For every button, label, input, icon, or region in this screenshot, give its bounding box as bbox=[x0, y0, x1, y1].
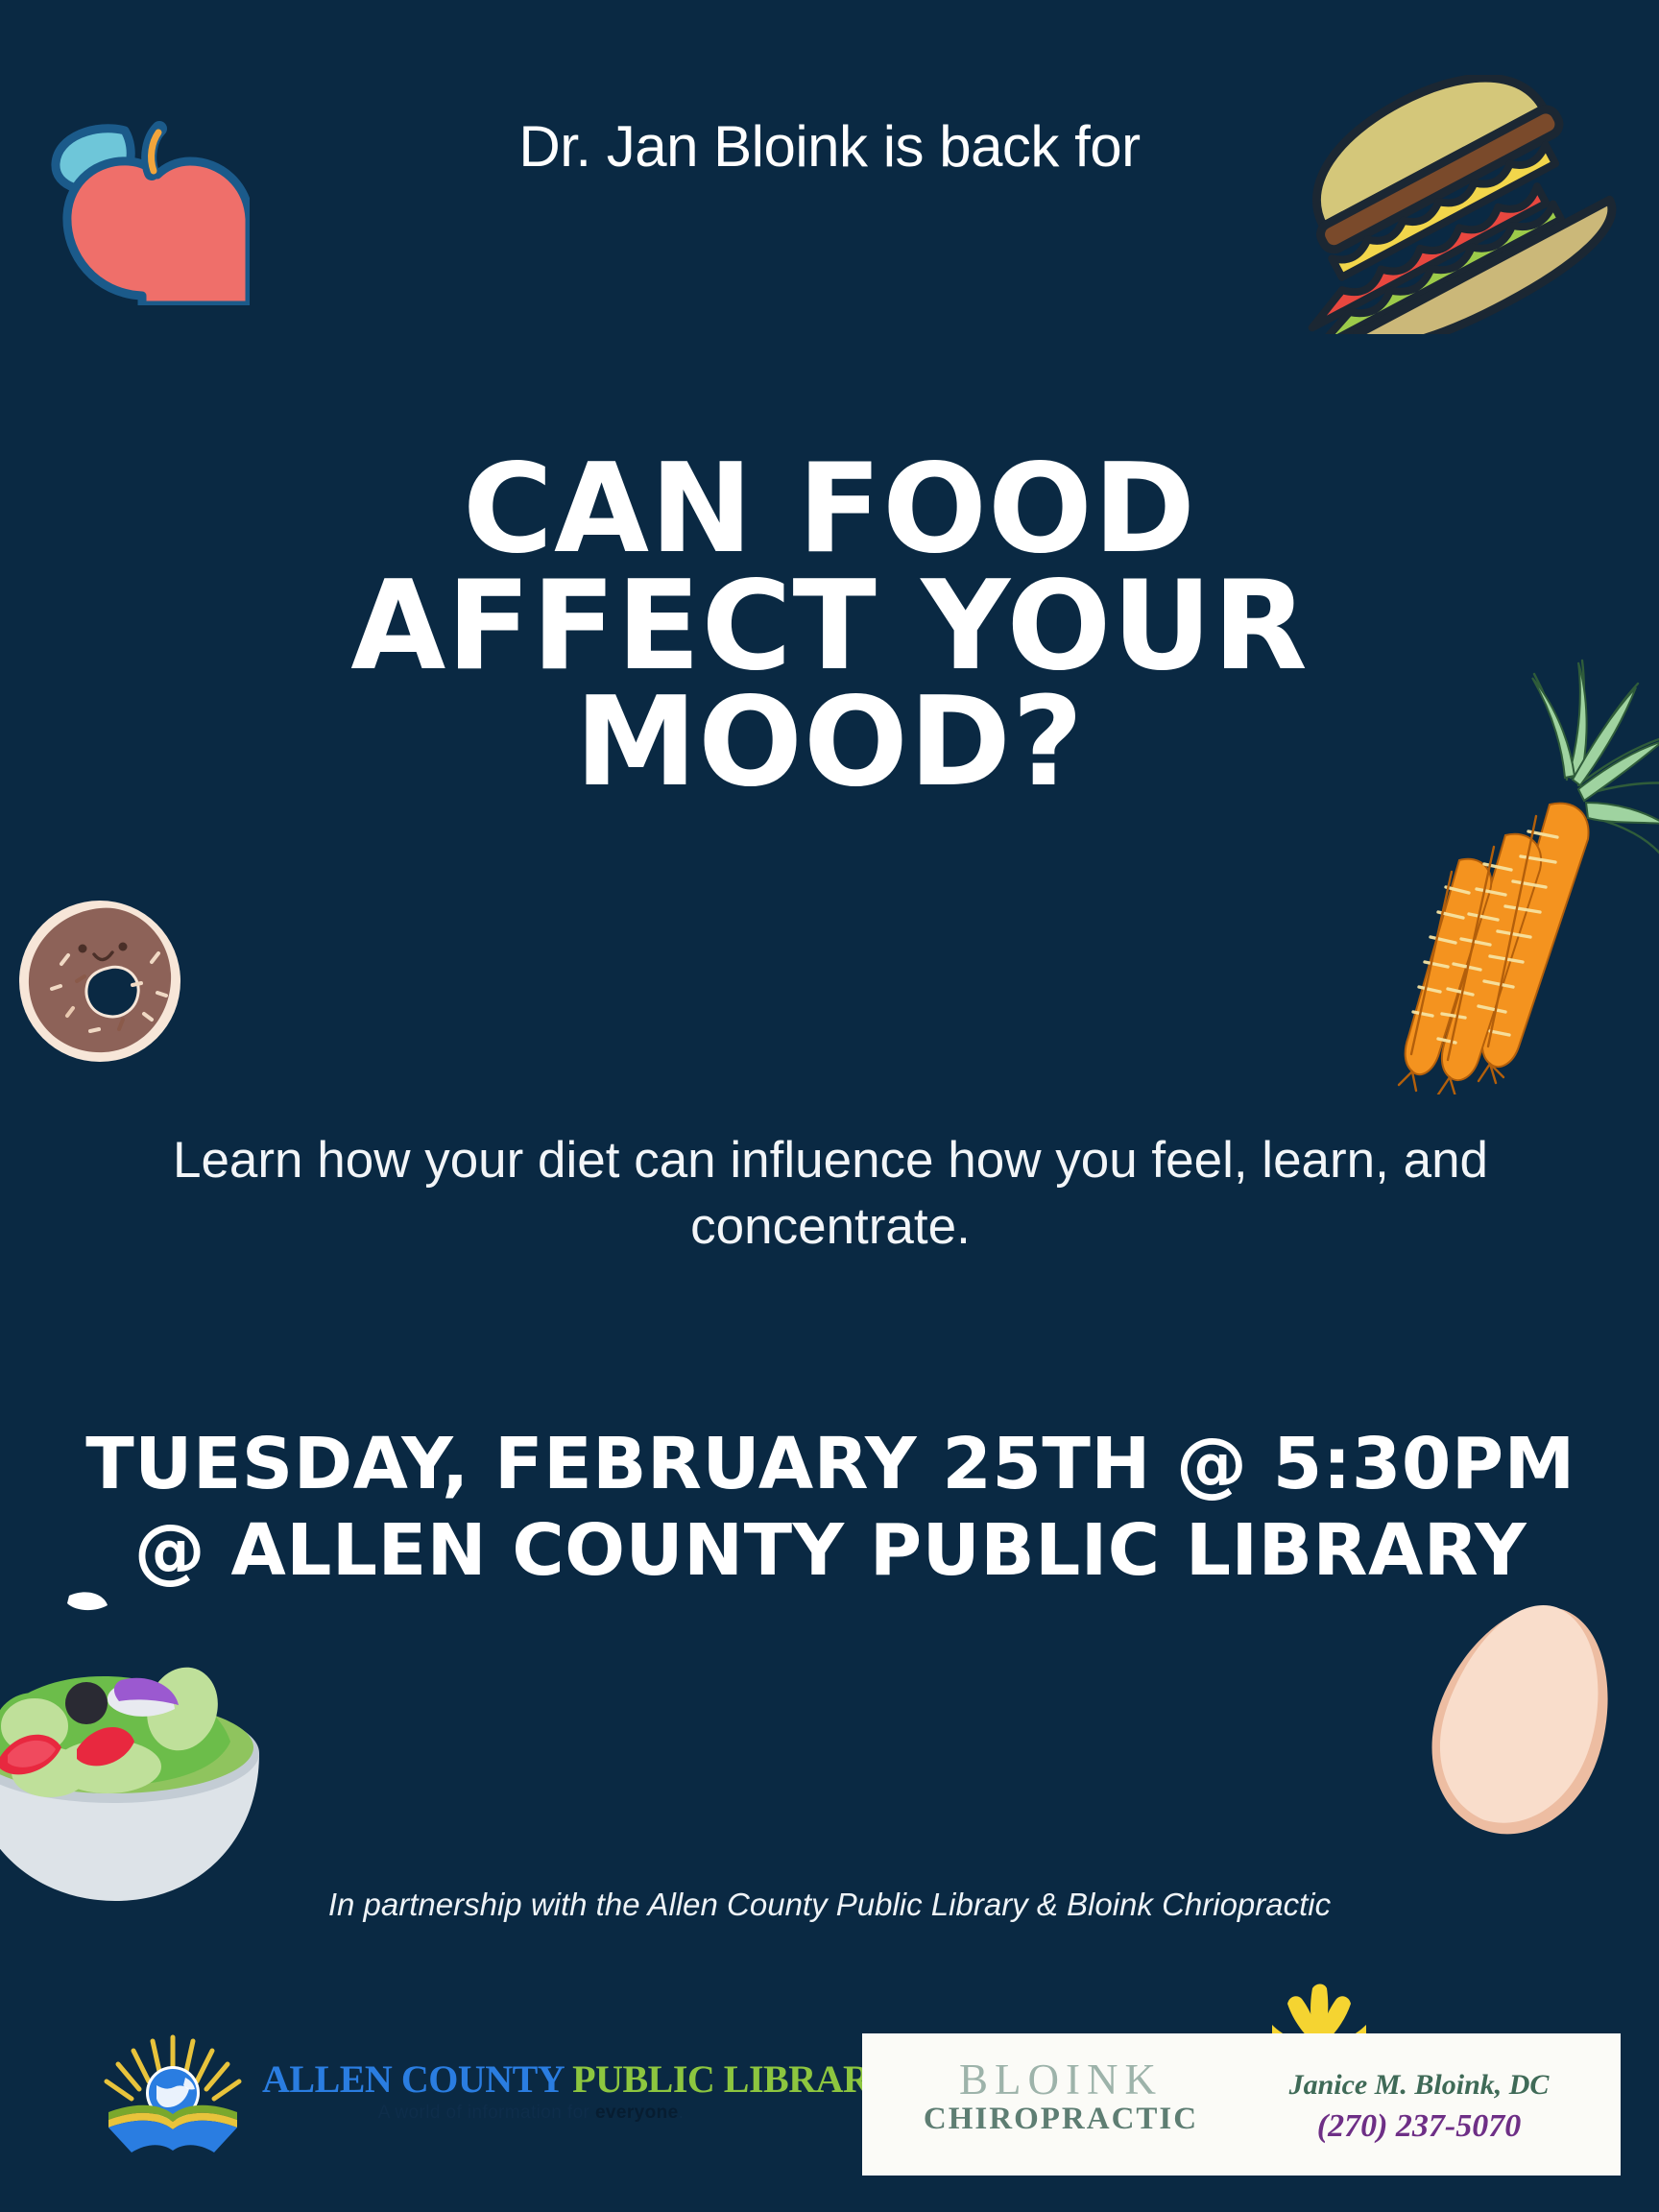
event-location: @ ALLEN COUNTY PUBLIC LIBRARY bbox=[38, 1507, 1623, 1594]
library-sunburst-globe-book-icon bbox=[101, 2032, 245, 2156]
bloink-brand-top: BLOINK bbox=[902, 2058, 1219, 2102]
headline-line-1: CAN FOOD bbox=[205, 451, 1454, 568]
event-details: TUESDAY, FEBRUARY 25TH @ 5:30PM @ ALLEN … bbox=[38, 1421, 1623, 1595]
bloink-brand-bottom: CHIROPRACTIC bbox=[902, 2102, 1219, 2138]
library-wordmark: ALLEN COUNTY PUBLIC LIBRARY A world of i… bbox=[262, 2060, 800, 2124]
library-name-part2: PUBLIC LIBRARY bbox=[572, 2057, 896, 2101]
page-title: CAN FOOD AFFECT YOUR MOOD? bbox=[205, 451, 1454, 802]
description-text: Learn how your diet can influence how yo… bbox=[144, 1128, 1517, 1261]
salad-bowl-illustration bbox=[0, 1584, 269, 1911]
library-tagline-suffix: . bbox=[679, 2103, 685, 2123]
event-poster: Dr. Jan Bloink is back for CAN FOOD AFFE… bbox=[0, 0, 1659, 2212]
doctor-name: Janice M. Bloink, DC bbox=[1246, 2068, 1592, 2103]
headline-line-3: MOOD? bbox=[205, 685, 1454, 802]
event-date-time: TUESDAY, FEBRUARY 25TH @ 5:30PM bbox=[38, 1421, 1623, 1507]
bloink-chiropractic-logo: BLOINK CHIROPRACTIC Janice M. Bloink, DC… bbox=[862, 2033, 1621, 2176]
donut-illustration bbox=[17, 893, 192, 1066]
phone-number[interactable]: (270) 237-5070 bbox=[1246, 2106, 1592, 2148]
library-name: ALLEN COUNTY PUBLIC LIBRARY bbox=[262, 2060, 800, 2099]
library-tagline-emphasis: everyone bbox=[595, 2103, 679, 2123]
library-tagline: A world of information for everyone. bbox=[262, 2103, 800, 2124]
headline-line-2: AFFECT YOUR bbox=[205, 568, 1454, 685]
library-name-part1: ALLEN COUNTY bbox=[262, 2057, 572, 2101]
kicker-text: Dr. Jan Bloink is back for bbox=[0, 113, 1659, 180]
egg-illustration bbox=[1402, 1589, 1642, 1858]
partnership-text: In partnership with the Allen County Pub… bbox=[61, 1887, 1598, 1923]
library-tagline-prefix: A world of information for bbox=[378, 2103, 595, 2123]
allen-county-public-library-logo: ALLEN COUNTY PUBLIC LIBRARY A world of i… bbox=[101, 2035, 792, 2160]
bloink-contact: Janice M. Bloink, DC (270) 237-5070 bbox=[1246, 2068, 1592, 2148]
bloink-brand: BLOINK CHIROPRACTIC bbox=[902, 2058, 1219, 2138]
